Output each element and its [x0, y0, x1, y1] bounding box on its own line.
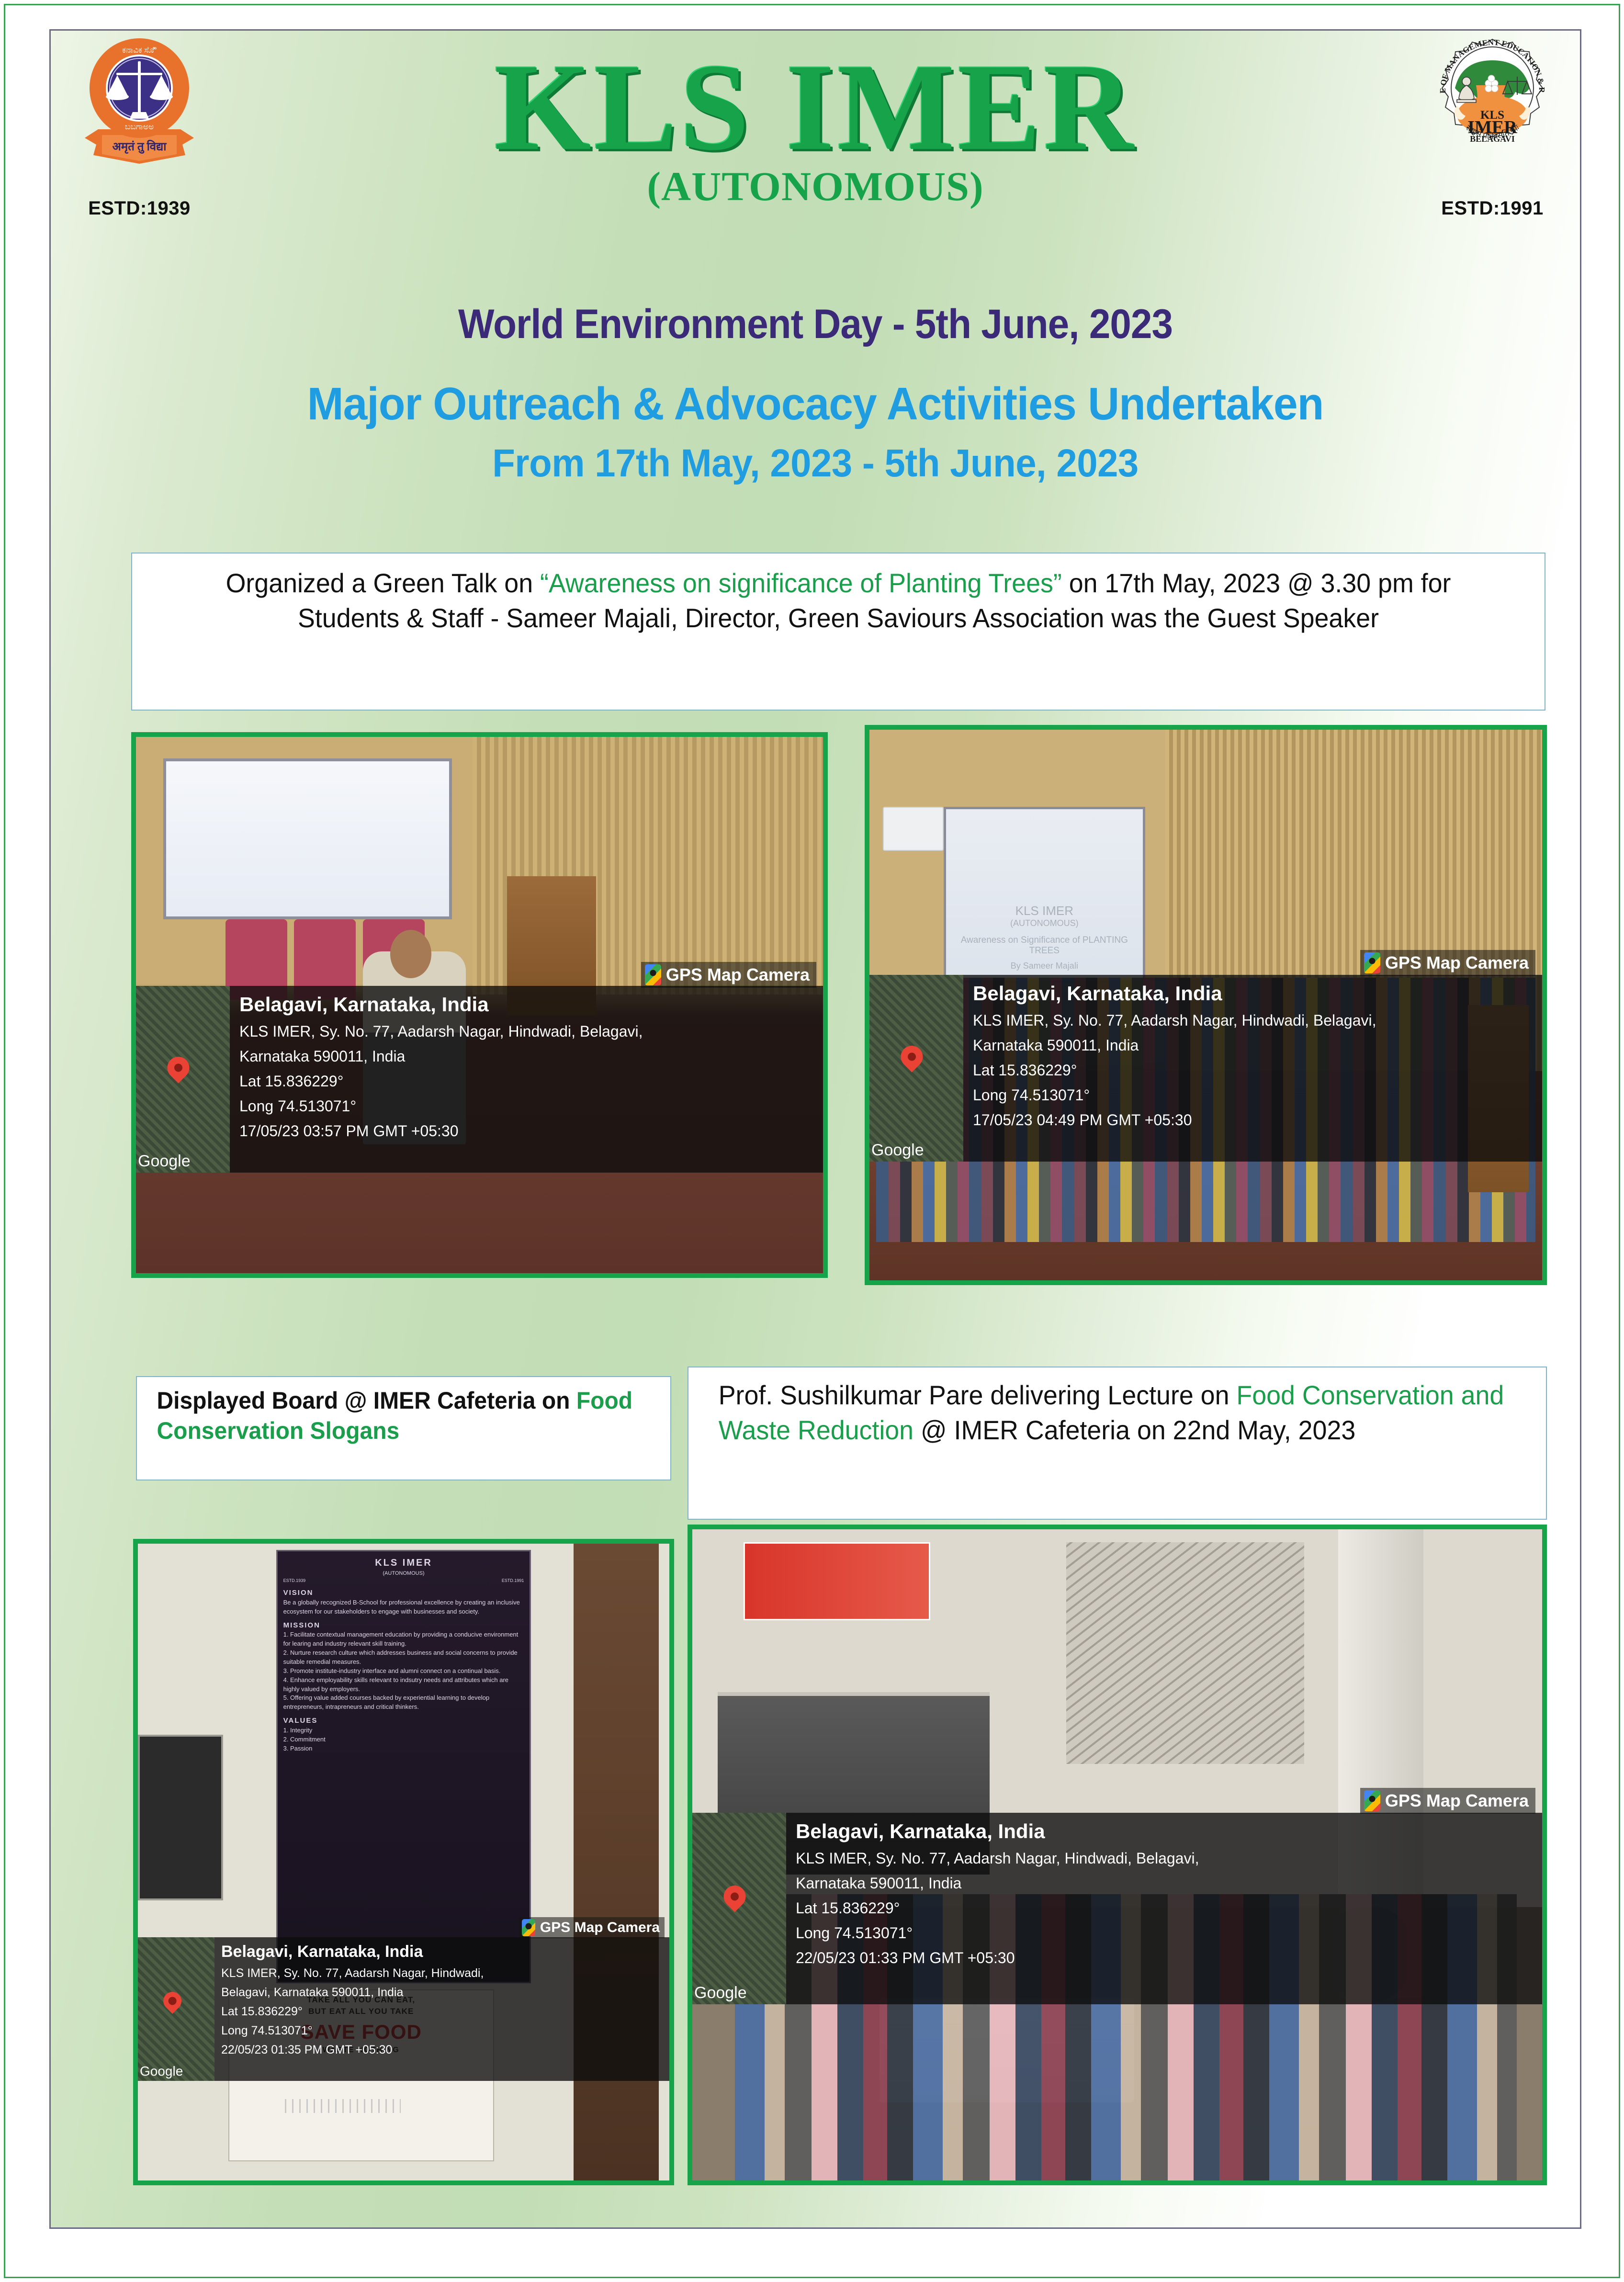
gps-address-line1: KLS IMER, Sy. No. 77, Aadarsh Nagar, Hin…: [796, 1846, 1199, 1871]
google-attribution: Google: [871, 1141, 924, 1160]
gps-latitude: Lat 15.836229°: [796, 1896, 1199, 1921]
poster-mission-1: 1. Facilitate contextual management educ…: [283, 1630, 524, 1649]
projection-screen: KLS IMER (AUTONOMOUS) Awareness on Signi…: [944, 807, 1146, 983]
beverage-banner: [744, 1542, 931, 1620]
photo-board-scene: KLS IMER (AUTONOMOUS) ESTD.1939 ESTD.199…: [138, 1544, 669, 2180]
google-attribution: Google: [694, 1984, 747, 2002]
gps-longitude: Long 74.513071°: [239, 1094, 643, 1119]
board-caption-box: Displayed Board @ IMER Cafeteria on Food…: [136, 1376, 671, 1480]
poster-header: अमृतं तु विद्या ಕನಾವಿಕ ಸೊೆೆೆಿ: [51, 31, 1580, 299]
institute-title-block: KLS IMER (AUTONOMOUS): [51, 31, 1580, 210]
gps-text-block: Belagavi, Karnataka, India KLS IMER, Sy.…: [786, 1813, 1208, 2004]
gps-app-name: GPS Map Camera: [540, 1920, 660, 1936]
poster-estd-left: ESTD.1939: [283, 1578, 306, 1584]
slide-presenter: By Sameer Majali: [946, 961, 1143, 971]
poster-mission-4: 4. Enhance employability skills relevant…: [283, 1676, 524, 1694]
green-talk-highlight: “Awareness on significance of Planting T…: [540, 568, 1062, 598]
board-caption-part1: Displayed Board @ IMER Cafeteria on: [157, 1387, 576, 1414]
green-talk-caption-text: Organized a Green Talk on “Awareness on …: [176, 566, 1501, 636]
map-pin-icon: [896, 1041, 927, 1073]
slide-topic: Awareness on Significance of PLANTING TR…: [946, 935, 1143, 956]
page-title: KLS IMER: [51, 31, 1580, 173]
gps-app-name: GPS Map Camera: [1385, 953, 1529, 973]
gps-text-block: Belagavi, Karnataka, India KLS IMER, Sy.…: [230, 986, 652, 1173]
poster-values-head: VALUES: [283, 1716, 524, 1726]
gps-app-name: GPS Map Camera: [666, 965, 810, 985]
gps-text-block: Belagavi, Karnataka, India KLS IMER, Sy.…: [214, 1937, 489, 2081]
speaker-head: [390, 930, 431, 978]
board-caption-text: Displayed Board @ IMER Cafeteria on Food…: [157, 1386, 650, 1446]
gps-latitude: Lat 15.836229°: [973, 1058, 1376, 1083]
gps-place: Belagavi, Karnataka, India: [796, 1819, 1199, 1843]
poster-value-3: 3. Passion: [283, 1744, 524, 1753]
gps-text-block: Belagavi, Karnataka, India KLS IMER, Sy.…: [963, 975, 1385, 1162]
slide-title: KLS IMER: [946, 904, 1143, 918]
poster-mission-3: 3. Promote institute-industry interface …: [283, 1667, 524, 1676]
gps-map-camera-icon: [1364, 1790, 1380, 1811]
gps-latitude: Lat 15.836229°: [239, 1069, 643, 1094]
photo-green-talk-group: KLS IMER (AUTONOMOUS) Awareness on Signi…: [865, 725, 1547, 1285]
gps-timestamp: 22/05/23 01:33 PM GMT +05:30: [796, 1946, 1199, 1971]
gps-address-line2: Karnataka 590011, India: [973, 1033, 1376, 1058]
gps-info-panel: Google Belagavi, Karnataka, India KLS IM…: [136, 986, 823, 1173]
gps-address-line2: Karnataka 590011, India: [796, 1871, 1199, 1896]
google-attribution: Google: [138, 1152, 191, 1171]
subtitle-activities: Major Outreach & Advocacy Activities Und…: [89, 378, 1542, 430]
gps-place: Belagavi, Karnataka, India: [973, 982, 1376, 1005]
slide-subtitle: (AUTONOMOUS): [946, 918, 1143, 928]
gps-place: Belagavi, Karnataka, India: [221, 1942, 484, 1962]
gps-longitude: Long 74.513071°: [973, 1083, 1376, 1108]
gps-map-camera-badge: GPS Map Camera: [1360, 950, 1535, 976]
gps-latitude: Lat 15.836229°: [221, 2002, 484, 2021]
poster-vision-head: VISION: [283, 1588, 524, 1598]
gps-info-panel: Google Belagavi, Karnataka, India KLS IM…: [138, 1937, 669, 2081]
lecture-caption-part1: Prof. Sushilkumar Pare delivering Lectur…: [719, 1380, 1237, 1410]
air-conditioner: [883, 807, 943, 851]
gps-address-line2: Karnataka 590011, India: [239, 1044, 643, 1069]
poster-title: KLS IMER: [283, 1556, 524, 1570]
google-attribution: Google: [140, 2064, 183, 2079]
gps-app-name: GPS Map Camera: [1385, 1791, 1529, 1811]
window: [138, 1735, 223, 1900]
gps-map-camera-icon: [522, 1919, 535, 1936]
gps-address-line1: KLS IMER, Sy. No. 77, Aadarsh Nagar, Hin…: [973, 1008, 1376, 1033]
door: [574, 1544, 659, 2180]
forks-graphic: [279, 2099, 400, 2113]
map-pin-icon: [163, 1052, 194, 1084]
gps-info-panel: Google Belagavi, Karnataka, India KLS IM…: [692, 1813, 1542, 2004]
lecture-caption-box: Prof. Sushilkumar Pare delivering Lectur…: [688, 1367, 1547, 1520]
gps-longitude: Long 74.513071°: [796, 1921, 1199, 1946]
projection-screen: [163, 758, 452, 919]
poster-slide: अमृतं तु विद्या ಕನಾವಿಕ ಸೊೆೆೆಿ: [49, 29, 1581, 2229]
gps-map-thumbnail: Google: [692, 1813, 786, 2004]
poster-value-1: 1. Integrity: [283, 1726, 524, 1735]
map-pin-icon: [719, 1881, 750, 1912]
gps-place: Belagavi, Karnataka, India: [239, 993, 643, 1017]
gps-map-thumbnail: Google: [869, 975, 963, 1162]
poster-mission-2: 2. Nurture research culture which addres…: [283, 1649, 524, 1667]
gps-address-line1: KLS IMER, Sy. No. 77, Aadarsh Nagar, Hin…: [221, 1964, 484, 1983]
gps-info-panel: Google Belagavi, Karnataka, India KLS IM…: [869, 975, 1542, 1162]
subtitle-date-range: From 17th May, 2023 - 5th June, 2023: [89, 441, 1542, 486]
autonomous-label: (AUTONOMOUS): [51, 162, 1580, 210]
poster-mission-5: 5. Offering value added courses backed b…: [283, 1694, 524, 1712]
poster-subtitle: (AUTONOMOUS): [283, 1570, 524, 1578]
staircase: [1066, 1542, 1304, 1763]
gps-map-thumbnail: Google: [138, 1937, 214, 2081]
photo-cafeteria-display-board: KLS IMER (AUTONOMOUS) ESTD.1939 ESTD.199…: [133, 1539, 674, 2185]
gps-map-camera-icon: [645, 964, 661, 985]
gps-map-camera-icon: [1364, 952, 1380, 973]
gps-longitude: Long 74.513071°: [221, 2021, 484, 2040]
gps-timestamp: 17/05/23 03:57 PM GMT +05:30: [239, 1119, 643, 1144]
map-pin-icon: [159, 1988, 185, 2014]
lecture-caption-part2: @ IMER Cafeteria on 22nd May, 2023: [913, 1415, 1355, 1445]
page-frame: अमृतं तु विद्या ಕನಾವಿಕ ಸೊೆೆೆಿ: [4, 4, 1620, 2278]
vision-mission-values-poster: KLS IMER (AUTONOMOUS) ESTD.1939 ESTD.199…: [276, 1550, 531, 1983]
photo-green-talk-speaker: GPS Map Camera Google Belagavi, Karnatak…: [131, 732, 828, 1278]
green-talk-caption-box: Organized a Green Talk on “Awareness on …: [131, 553, 1545, 711]
photo-cafeteria-lecture: GPS Map Camera Google Belagavi, Karnatak…: [688, 1525, 1547, 2185]
poster-value-2: 2. Commitment: [283, 1735, 524, 1744]
gps-timestamp: 17/05/23 04:49 PM GMT +05:30: [973, 1108, 1376, 1133]
gps-map-camera-badge: GPS Map Camera: [1360, 1788, 1535, 1814]
green-talk-part1: Organized a Green Talk on: [226, 568, 540, 598]
gps-address-line1: KLS IMER, Sy. No. 77, Aadarsh Nagar, Hin…: [239, 1019, 643, 1044]
gps-map-thumbnail: Google: [136, 986, 230, 1173]
gps-address-line2: Belagavi, Karnataka 590011, India: [221, 1983, 484, 2002]
poster-vision-text: Be a globally recognized B-School for pr…: [283, 1598, 524, 1616]
gps-map-camera-badge: GPS Map Camera: [641, 962, 816, 988]
gps-map-camera-badge: GPS Map Camera: [519, 1917, 665, 1938]
gps-timestamp: 22/05/23 01:35 PM GMT +05:30: [221, 2040, 484, 2059]
poster-mission-head: MISSION: [283, 1620, 524, 1631]
poster-estd-right: ESTD.1991: [502, 1578, 524, 1584]
lecture-caption-text: Prof. Sushilkumar Pare delivering Lectur…: [719, 1378, 1516, 1448]
event-title: World Environment Day - 5th June, 2023: [104, 301, 1526, 348]
